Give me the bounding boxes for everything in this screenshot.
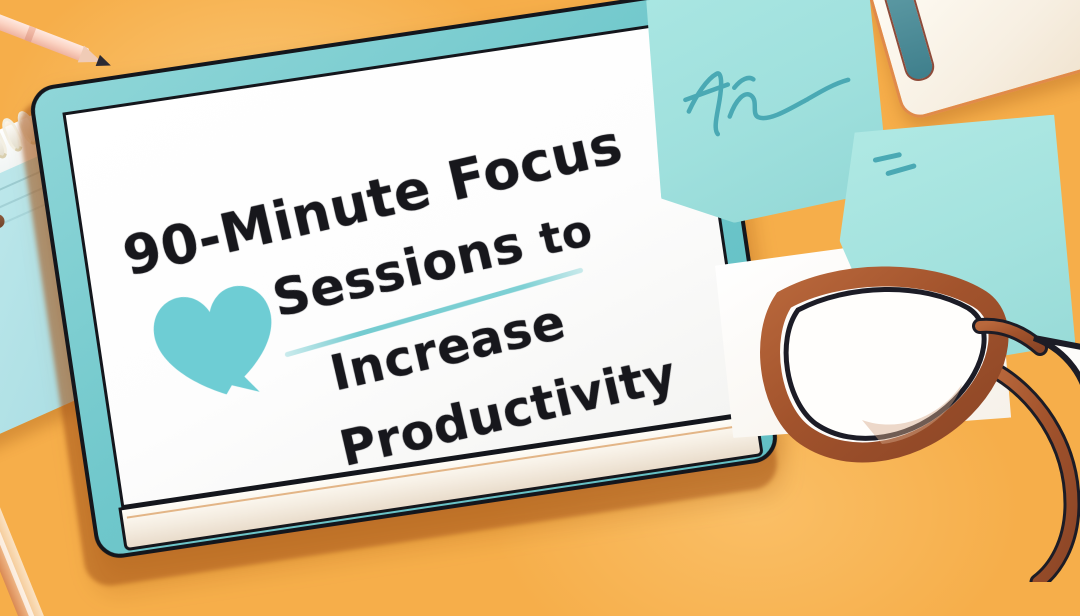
illustration-scene: 90-Minute Focus Sessionsto Increase Prod… xyxy=(0,0,1080,616)
notebook-pencil-eraser xyxy=(0,213,5,229)
eyeglasses xyxy=(742,252,1080,582)
heart-speech-bubble-icon xyxy=(143,272,290,413)
headline-line-2-tail: to xyxy=(535,205,597,266)
sticky-note-2-marks xyxy=(869,144,951,188)
